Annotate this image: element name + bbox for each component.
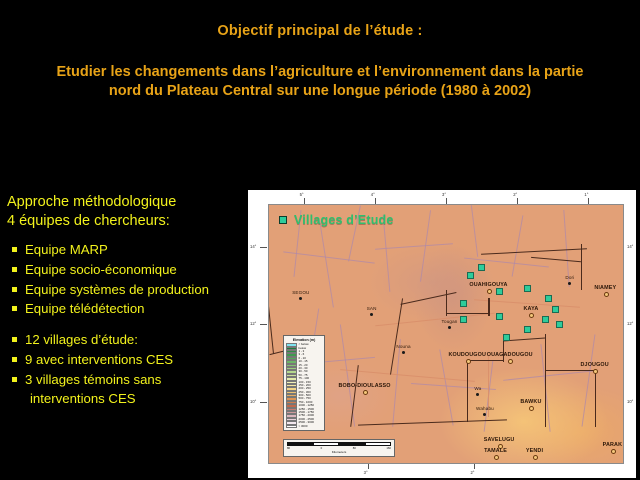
city-dot-icon xyxy=(370,313,373,316)
bullet-square-icon xyxy=(12,357,17,362)
elevation-legend: Elevation (m) < belowbelow1 - 33 - 66 - … xyxy=(283,335,325,431)
village-marker xyxy=(460,300,467,307)
latitude-tick-label: 10° xyxy=(250,399,256,404)
village-marker xyxy=(503,334,510,341)
methodology-heading: Approche méthodologique xyxy=(7,193,247,212)
scalebar-bar xyxy=(287,442,391,446)
latitude-tick-label: 14° xyxy=(250,244,256,249)
city-label: BAWKU xyxy=(520,399,541,405)
page-title: Objectif principal de l’étude : xyxy=(0,22,640,42)
village-marker xyxy=(460,316,467,323)
city-dot-icon xyxy=(508,359,513,364)
village-count-continuation: interventions CES xyxy=(7,390,247,409)
latitude-tick-mark xyxy=(260,247,267,248)
city-label: SAVELUGU xyxy=(484,437,515,443)
city-dot-icon xyxy=(448,326,451,329)
bullet-square-icon xyxy=(12,337,17,342)
bullet-square-icon xyxy=(12,247,17,252)
city-dot-icon xyxy=(611,449,616,454)
city-label: Nouna xyxy=(396,344,410,349)
city-label: Tougan xyxy=(442,319,458,324)
village-marker xyxy=(542,316,549,323)
study-objective-statement: Etudier les changements dans l’agricultu… xyxy=(0,63,640,102)
city-label: Wahabu xyxy=(476,406,494,411)
city-label: SEGOU xyxy=(292,290,309,295)
latitude-tick-label: 12° xyxy=(627,321,633,326)
city-dot-icon xyxy=(494,455,499,460)
list-item: Equipe socio-économique xyxy=(7,261,247,280)
elevation-legend-rows: < belowbelow1 - 33 - 66 - 1010 - 1515 - … xyxy=(286,343,322,428)
city-label: DJOUGOU xyxy=(581,362,609,368)
list-item: Equipe MARP xyxy=(7,241,247,260)
longitude-tick-label: 3° xyxy=(442,192,446,197)
village-count-label: 9 avec interventions CES xyxy=(25,351,247,370)
city-dot-icon xyxy=(299,297,302,300)
city-dot-icon xyxy=(604,292,609,297)
methodology-panel: Approche méthodologique 4 équipes de che… xyxy=(7,193,247,409)
scalebar-tick-label: 80 xyxy=(353,446,356,450)
objective-line-2: nord du Plateau Central sur une longue p… xyxy=(109,83,531,99)
city-label: NIAMEY xyxy=(594,285,616,291)
village-count-label: 3 villages témoins sans xyxy=(25,371,247,390)
scalebar-segment xyxy=(365,442,391,446)
longitude-tick-label: 1° xyxy=(584,192,588,197)
methodology-subheading: 4 équipes de chercheurs: xyxy=(7,212,247,231)
city-dot-icon xyxy=(476,393,479,396)
bullet-square-icon xyxy=(12,287,17,292)
village-marker xyxy=(496,288,503,295)
city-label: Dori xyxy=(565,275,574,280)
city-dot-icon xyxy=(402,351,405,354)
elevation-legend-row: > 3000 xyxy=(286,425,322,428)
list-item: Equipe systèmes de production xyxy=(7,281,247,300)
city-label: YENDI xyxy=(526,448,543,454)
objective-line-1: Etudier les changements dans l’agricultu… xyxy=(57,64,584,80)
team-label: Equipe MARP xyxy=(25,241,247,260)
scalebar-tick-label: 160 xyxy=(386,446,391,450)
village-marker xyxy=(496,313,503,320)
longitude-tick-label-bottom: 3° xyxy=(364,470,368,475)
village-count-label: 12 villages d’étude: xyxy=(25,331,247,350)
bullet-square-icon xyxy=(12,267,17,272)
list-item: Equipe télédétection xyxy=(7,300,247,319)
bullet-square-icon xyxy=(12,306,17,311)
longitude-tick-label: 5° xyxy=(300,192,304,197)
longitude-tick-label: 4° xyxy=(371,192,375,197)
scalebar-tick-label: 80 xyxy=(287,446,290,450)
list-item: 12 villages d’étude: xyxy=(7,331,247,350)
village-marker xyxy=(524,326,531,333)
scalebar-caption: Kilometers xyxy=(287,450,391,454)
villages-legend-label: Villages d’Etude xyxy=(294,213,394,227)
city-dot-icon xyxy=(466,359,471,364)
city-label: OUAGADOUGOU xyxy=(487,352,533,358)
city-label: Wa xyxy=(474,386,481,391)
latitude-tick-mark xyxy=(260,402,267,403)
village-marker xyxy=(545,295,552,302)
city-dot-icon xyxy=(529,313,534,318)
city-label: KOUDOUGOU xyxy=(448,352,486,358)
latitude-tick-label: 10° xyxy=(627,399,633,404)
villages-legend: Villages d’Etude xyxy=(279,213,394,227)
village-marker xyxy=(552,306,559,313)
study-area-map: 5°4°3°2°1°14°14°12°12°10°10°3°2° xyxy=(248,190,636,478)
city-label: TAMALE xyxy=(484,448,507,454)
map-scalebar: 80080160 Kilometers xyxy=(283,439,395,457)
city-dot-icon xyxy=(568,282,571,285)
village-marker xyxy=(478,264,485,271)
city-label: SAN xyxy=(367,306,377,311)
map-canvas: Villages d’Etude SEGOUSANNounaTouganOUAH… xyxy=(268,204,624,464)
team-label: Equipe socio-économique xyxy=(25,261,247,280)
village-marker-icon xyxy=(279,216,287,224)
village-marker xyxy=(556,321,563,328)
bullet-square-icon xyxy=(12,377,17,382)
city-dot-icon xyxy=(593,369,598,374)
longitude-tick-mark-bottom xyxy=(368,464,369,469)
scalebar-segment xyxy=(313,442,339,446)
latitude-tick-label: 14° xyxy=(627,244,633,249)
village-marker xyxy=(524,285,531,292)
scalebar-segment xyxy=(287,442,313,446)
village-marker xyxy=(467,272,474,279)
team-label: Equipe télédétection xyxy=(25,300,247,319)
city-label: BOBO-DIOULASSO xyxy=(339,383,391,389)
longitude-tick-label-bottom: 2° xyxy=(470,470,474,475)
list-item: 3 villages témoins sans xyxy=(7,371,247,390)
city-dot-icon xyxy=(363,390,368,395)
slide-title-block: Objectif principal de l’étude : Etudier … xyxy=(0,22,640,102)
team-label: Equipe systèmes de production xyxy=(25,281,247,300)
elevation-swatch xyxy=(286,425,297,428)
city-dot-icon xyxy=(487,289,492,294)
scalebar-segment xyxy=(339,442,365,446)
longitude-tick-mark-bottom xyxy=(474,464,475,469)
city-label: KAYA xyxy=(524,306,539,312)
city-dot-icon xyxy=(529,406,534,411)
city-label: PARAK xyxy=(603,442,623,448)
city-dot-icon xyxy=(533,455,538,460)
longitude-tick-label: 2° xyxy=(513,192,517,197)
list-item: 9 avec interventions CES xyxy=(7,351,247,370)
scalebar-tick-label: 0 xyxy=(321,446,323,450)
latitude-tick-mark xyxy=(260,324,267,325)
latitude-tick-label: 12° xyxy=(250,321,256,326)
elevation-range-label: > 3000 xyxy=(299,425,308,428)
